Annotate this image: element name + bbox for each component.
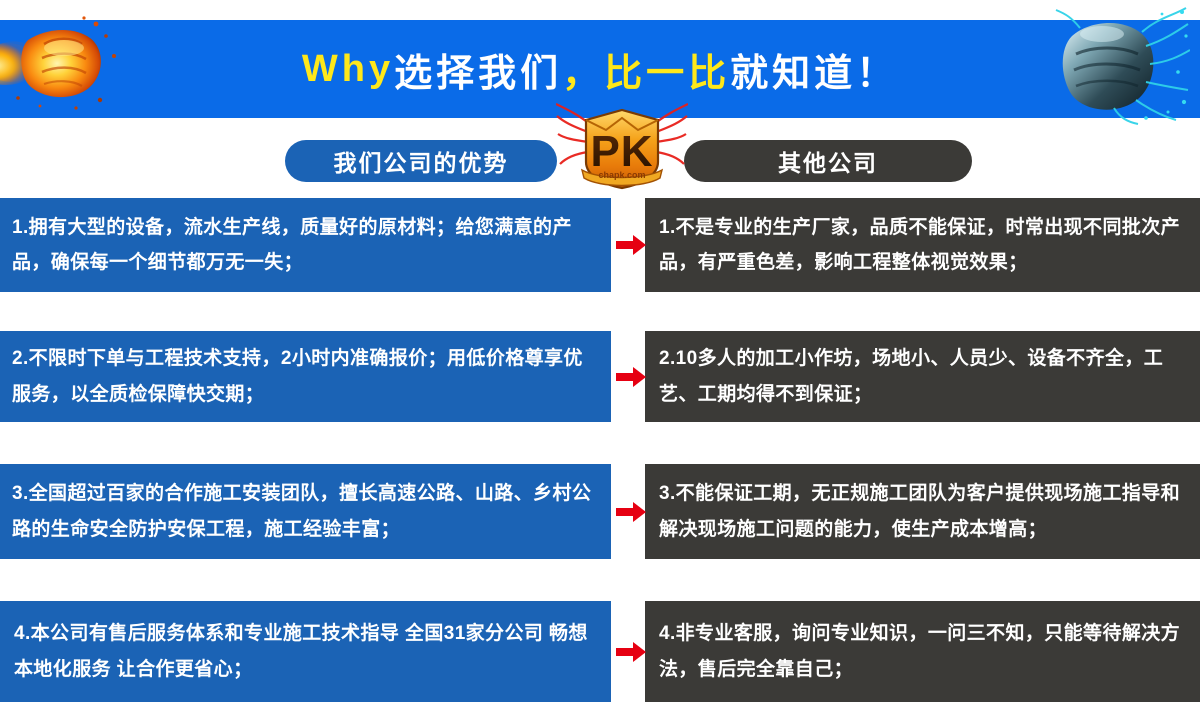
others-item-1: 1.不是专业的生产厂家，品质不能保证，时常出现不同批次产品，有严重色差，影响工程… (645, 198, 1200, 292)
right-arrow-icon-1 (614, 198, 648, 292)
ours-header-label: 我们公司的优势 (334, 144, 509, 178)
ours-header-pill[interactable]: 我们公司的优势 (285, 140, 557, 182)
pk-logo-main-text: PK (590, 127, 653, 176)
ours-item-2: 2.不限时下单与工程技术支持，2小时内准确报价；用低价格尊享优服务，以全质检保障… (0, 331, 611, 422)
others-item-4: 4.非专业客服，询问专业知识，一问三不知，只能等待解决方法，售后完全靠自己； (645, 601, 1200, 702)
others-item-1-text: 1.不是专业的生产厂家，品质不能保证，时常出现不同批次产品，有严重色差，影响工程… (659, 210, 1186, 280)
others-item-3-text: 3.不能保证工期，无正规施工团队为客户提供现场施工指导和解决现场施工问题的能力，… (659, 476, 1186, 546)
ours-item-4: 4.本公司有售后服务体系和专业施工技术指导 全国31家分公司 畅想本地化服务 让… (0, 601, 611, 702)
others-item-2-text: 2.10多人的加工小作坊，场地小、人员少、设备不齐全，工艺、工期均得不到保证； (659, 341, 1186, 411)
pk-logo-icon: PK chapk.com (556, 96, 688, 196)
comparison-row-3: 3.全国超过百家的合作施工安装团队，擅长高速公路、山路、乡村公路的生命安全防护安… (0, 464, 1200, 559)
comparison-row-2: 2.不限时下单与工程技术支持，2小时内准确报价；用低价格尊享优服务，以全质检保障… (0, 331, 1200, 422)
ours-item-3-text: 3.全国超过百家的合作施工安装团队，擅长高速公路、山路、乡村公路的生命安全防护安… (12, 476, 597, 546)
others-item-3: 3.不能保证工期，无正规施工团队为客户提供现场施工指导和解决现场施工问题的能力，… (645, 464, 1200, 559)
ours-item-1-text: 1.拥有大型的设备，流水生产线，质量好的原材料；给您满意的产品，确保每一个细节都… (12, 210, 597, 280)
banner-title-part-4: 就知道！ (730, 42, 898, 97)
others-header-label: 其他公司 (778, 144, 878, 178)
others-item-2: 2.10多人的加工小作坊，场地小、人员少、设备不齐全，工艺、工期均得不到保证； (645, 331, 1200, 422)
pk-logo-sub-text: chapk.com (598, 170, 645, 180)
ours-item-4-text: 4.本公司有售后服务体系和专业施工技术指导 全国31家分公司 畅想本地化服务 让… (14, 616, 597, 686)
ours-item-3: 3.全国超过百家的合作施工安装团队，擅长高速公路、山路、乡村公路的生命安全防护安… (0, 464, 611, 559)
banner-title-part-2: 选择我们 (394, 42, 562, 97)
others-header-pill[interactable]: 其他公司 (684, 140, 972, 182)
ours-item-1: 1.拥有大型的设备，流水生产线，质量好的原材料；给您满意的产品，确保每一个细节都… (0, 198, 611, 292)
ours-item-2-text: 2.不限时下单与工程技术支持，2小时内准确报价；用低价格尊享优服务，以全质检保障… (12, 341, 597, 411)
comparison-poster: Why选择我们，比一比就知道！ (0, 0, 1200, 724)
right-arrow-icon-4 (614, 601, 648, 702)
banner-title-part-1: Why (302, 48, 394, 91)
right-arrow-icon-3 (614, 464, 648, 559)
others-item-4-text: 4.非专业客服，询问专业知识，一问三不知，只能等待解决方法，售后完全靠自己； (659, 616, 1186, 686)
banner-title-part-3: ，比一比 (562, 42, 730, 97)
comparison-row-1: 1.拥有大型的设备，流水生产线，质量好的原材料；给您满意的产品，确保每一个细节都… (0, 198, 1200, 292)
comparison-row-4: 4.本公司有售后服务体系和专业施工技术指导 全国31家分公司 畅想本地化服务 让… (0, 601, 1200, 702)
right-arrow-icon-2 (614, 331, 648, 422)
